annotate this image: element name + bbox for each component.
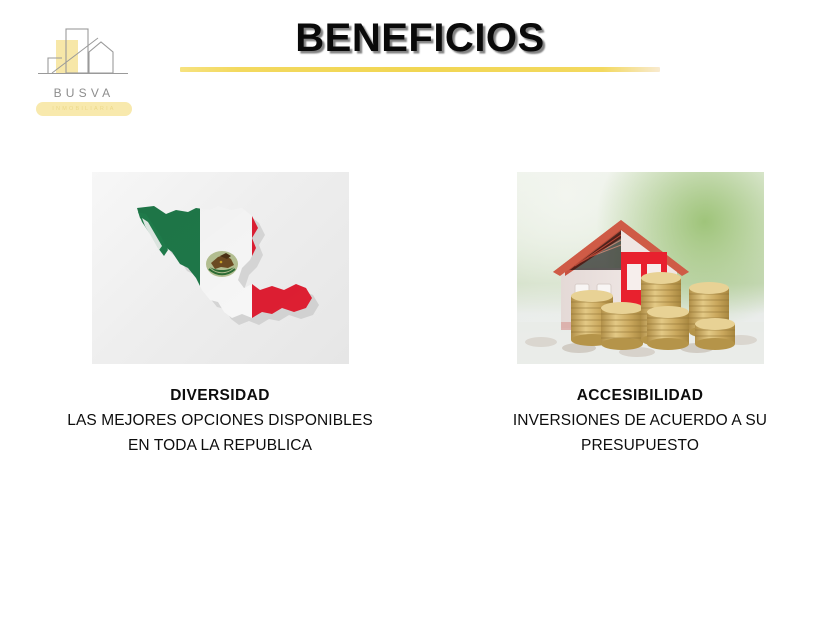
benefit-caption-diversidad: DIVERSIDAD LAS MEJORES OPCIONES DISPONIB… <box>20 386 420 458</box>
logo-tagline-pill: INMOBILIARIA <box>36 102 132 116</box>
benefit-body-line: EN TODA LA REPUBLICA <box>20 433 420 458</box>
building-outline-icon <box>28 26 140 88</box>
slide-canvas: BUSVA INMOBILIARIA BENEFICIOS <box>0 0 840 630</box>
mexico-map-flag-image <box>92 172 349 364</box>
benefit-body: INVERSIONES DE ACUERDO A SU PRESUPUESTO <box>450 408 830 458</box>
benefit-body-line: PRESUPUESTO <box>450 433 830 458</box>
benefit-body-line: LAS MEJORES OPCIONES DISPONIBLES <box>20 408 420 433</box>
company-logo[interactable]: BUSVA INMOBILIARIA <box>28 26 140 118</box>
mexico-map-shape <box>92 172 349 364</box>
house-and-coins-image <box>517 172 764 364</box>
coat-of-arms <box>206 251 238 277</box>
benefit-column-diversidad: DIVERSIDAD LAS MEJORES OPCIONES DISPONIB… <box>20 172 420 458</box>
benefit-heading: DIVERSIDAD <box>20 386 420 406</box>
logo-tagline: INMOBILIARIA <box>36 102 132 116</box>
benefit-column-accesibilidad: ACCESIBILIDAD INVERSIONES DE ACUERDO A S… <box>450 172 830 458</box>
benefit-caption-accesibilidad: ACCESIBILIDAD INVERSIONES DE ACUERDO A S… <box>450 386 830 458</box>
benefit-heading: ACCESIBILIDAD <box>450 386 830 406</box>
page-title: BENEFICIOS <box>170 15 670 61</box>
benefit-body: LAS MEJORES OPCIONES DISPONIBLES EN TODA… <box>20 408 420 458</box>
house-and-coins-shape <box>517 172 764 364</box>
benefit-body-line: INVERSIONES DE ACUERDO A SU <box>450 408 830 433</box>
logo-wordmark: BUSVA <box>28 86 140 100</box>
title-underline-rule <box>180 67 660 72</box>
